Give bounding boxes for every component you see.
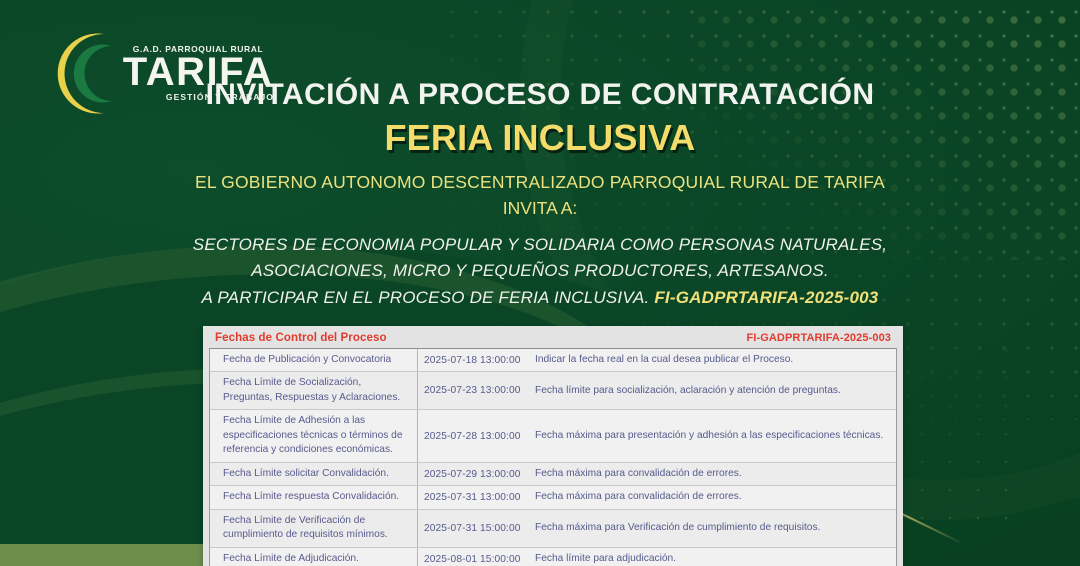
schedule-date-value: 2025-07-28 13:00:00 (418, 410, 531, 461)
schedule-date-value: 2025-07-31 13:00:00 (418, 486, 531, 508)
schedule-milestone-label: Fecha de Publicación y Convocatoria (210, 349, 418, 371)
invitation-poster: G.A.D. PARROQUIAL RURAL TARIFA GESTIÓN Y… (0, 0, 1080, 566)
schedule-title: Fechas de Control del Proceso (215, 332, 387, 344)
schedule-description: Indicar la fecha real en la cual desea p… (531, 349, 896, 371)
table-row: Fecha de Publicación y Convocatoria2025-… (210, 349, 896, 372)
table-row: Fecha Límite solicitar Convalidación.202… (210, 463, 896, 486)
schedule-date-value: 2025-07-31 15:00:00 (418, 510, 531, 547)
poster-title: INVITACIÓN A PROCESO DE CONTRATACIÓN (0, 78, 1080, 111)
schedule-description: Fecha máxima para convalidación de error… (531, 486, 896, 508)
body-line-2: ASOCIACIONES, MICRO Y PEQUEÑOS PRODUCTOR… (0, 258, 1080, 284)
schedule-description: Fecha límite para socialización, aclarac… (531, 372, 896, 409)
schedule-description: Fecha máxima para Verificación de cumpli… (531, 510, 896, 547)
schedule-milestone-label: Fecha Límite de Socialización, Preguntas… (210, 372, 418, 409)
schedule-milestone-label: Fecha Límite de Adhesión a las especific… (210, 410, 418, 461)
schedule-process-code: FI-GADPRTARIFA-2025-003 (746, 332, 891, 344)
table-row: Fecha Límite de Verificación de cumplimi… (210, 510, 896, 548)
schedule-table: Fecha de Publicación y Convocatoria2025-… (209, 348, 897, 566)
schedule-date-value: 2025-07-23 13:00:00 (418, 372, 531, 409)
table-row: Fecha Límite de Adhesión a las especific… (210, 410, 896, 462)
schedule-date-value: 2025-08-01 15:00:00 (418, 548, 531, 566)
schedule-date-value: 2025-07-18 13:00:00 (418, 349, 531, 371)
schedule-panel: Fechas de Control del Proceso FI-GADPRTA… (203, 326, 903, 566)
schedule-panel-header: Fechas de Control del Proceso FI-GADPRTA… (209, 330, 897, 348)
headline-block: INVITACIÓN A PROCESO DE CONTRATACIÓN FER… (0, 78, 1080, 221)
body-paragraph: SECTORES DE ECONOMIA POPULAR Y SOLIDARIA… (0, 232, 1080, 311)
schedule-milestone-label: Fecha Límite de Adjudicación. (210, 548, 418, 566)
schedule-description: Fecha límite para adjudicación. (531, 548, 896, 566)
schedule-milestone-label: Fecha Límite de Verificación de cumplimi… (210, 510, 418, 547)
schedule-milestone-label: Fecha Límite solicitar Convalidación. (210, 463, 418, 485)
organization-line-2: INVITA A: (0, 196, 1080, 221)
body-line-3: A PARTICIPAR EN EL PROCESO DE FERIA INCL… (0, 285, 1080, 311)
process-code-inline: FI-GADPRTARIFA-2025-003 (654, 288, 878, 307)
body-line-3-prefix: A PARTICIPAR EN EL PROCESO DE FERIA INCL… (202, 288, 650, 307)
organization-line-1: EL GOBIERNO AUTONOMO DESCENTRALIZADO PAR… (0, 170, 1080, 195)
body-line-1: SECTORES DE ECONOMIA POPULAR Y SOLIDARIA… (0, 232, 1080, 258)
schedule-date-value: 2025-07-29 13:00:00 (418, 463, 531, 485)
schedule-description: Fecha máxima para presentación y adhesió… (531, 410, 896, 461)
table-row: Fecha Límite de Adjudicación.2025-08-01 … (210, 548, 896, 566)
schedule-milestone-label: Fecha Límite respuesta Convalidación. (210, 486, 418, 508)
table-row: Fecha Límite respuesta Convalidación.202… (210, 486, 896, 509)
schedule-description: Fecha máxima para convalidación de error… (531, 463, 896, 485)
poster-subtitle: FERIA INCLUSIVA (0, 117, 1080, 158)
table-row: Fecha Límite de Socialización, Preguntas… (210, 372, 896, 410)
